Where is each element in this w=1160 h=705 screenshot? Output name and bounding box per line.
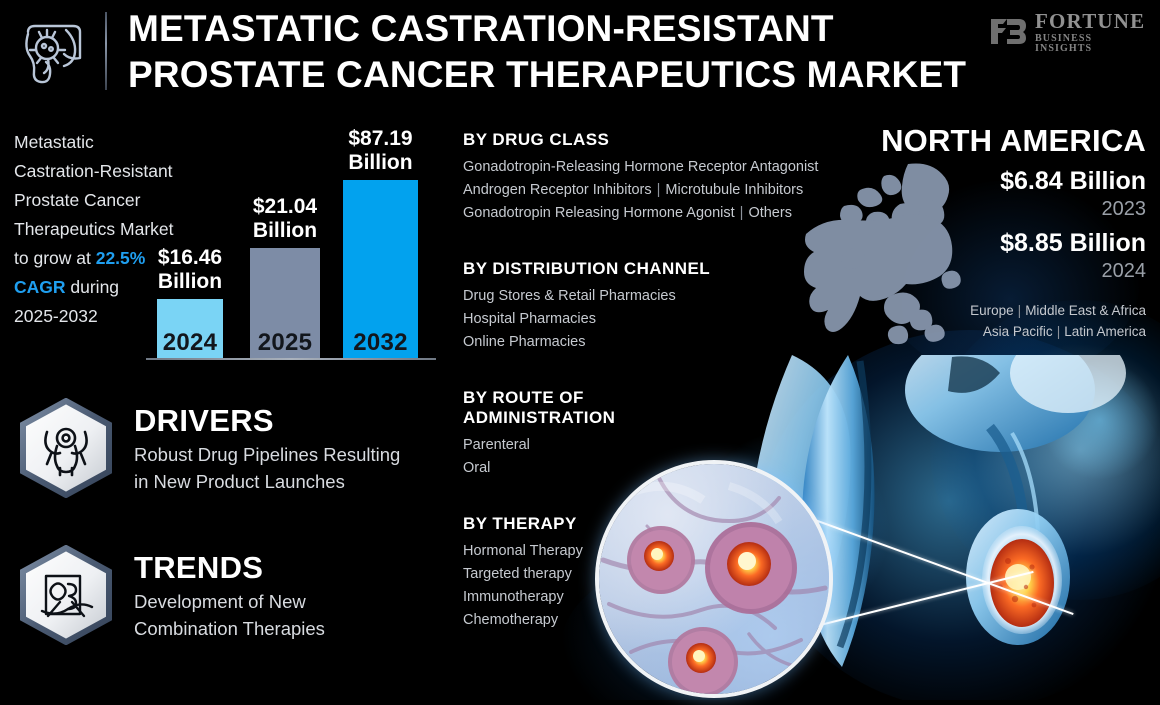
cagr-label: CAGR (14, 277, 66, 297)
forecast-period: 2025-2032 (14, 306, 98, 326)
segment-item: Hospital Pharmacies (463, 308, 843, 331)
bar-label-2025: $21.04 Billion (253, 195, 317, 248)
item-separator: | (652, 182, 666, 198)
bar-group-2025: $21.04 Billion 2025 (250, 248, 320, 358)
logo-subtitle: BUSINESS INSIGHTS (1035, 34, 1148, 54)
bar-2025: $21.04 Billion 2025 (250, 248, 320, 358)
item-separator: | (735, 205, 749, 221)
segment-item-label: Microtubule Inhibitors (665, 182, 803, 198)
drivers-block: DRIVERS Robust Drug Pipelines Resulting … (16, 398, 446, 498)
segment-title-distribution-channel: BY DISTRIBUTION CHANNEL (463, 259, 843, 279)
segment-item: Chemotherapy (463, 609, 843, 632)
region-separator: | (1053, 324, 1065, 339)
region-europe: Europe (970, 303, 1014, 318)
bar-year-2024: 2024 (163, 329, 218, 358)
region-separator: | (1014, 303, 1026, 318)
intro-part2: during (66, 277, 120, 297)
region-value-2023: $6.84 Billion (856, 166, 1146, 197)
bar-year-2032: 2032 (353, 329, 408, 358)
drivers-desc-line1: Robust Drug Pipelines Resulting (134, 444, 400, 465)
page-title-line2: PROSTATE CANCER THERAPEUTICS MARKET (128, 52, 998, 98)
bar-label-2024: $16.46 Billion (158, 246, 222, 299)
trends-text: TRENDS Development of New Combination Th… (134, 548, 325, 642)
drivers-desc-line2: in New Product Launches (134, 471, 345, 492)
trends-title: TRENDS (134, 550, 325, 586)
bar-unit-2024: Billion (158, 270, 222, 293)
segmentation-column: BY DRUG CLASS Gonadotropin-Releasing Hor… (463, 130, 843, 654)
segment-title-line2: ADMINISTRATION (463, 408, 615, 427)
bar-group-2024: $16.46 Billion 2024 (157, 299, 223, 358)
trends-desc-line2: Combination Therapies (134, 618, 325, 639)
trends-description: Development of New Combination Therapies (134, 588, 325, 642)
segment-item-label: Chemotherapy (463, 612, 558, 628)
brand-logo: FORTUNE BUSINESS INSIGHTS (988, 8, 1148, 56)
segment-item: Online Pharmacies (463, 331, 843, 354)
prostate-cancer-cell-icon (14, 12, 94, 92)
region-apac: Asia Pacific (983, 324, 1053, 339)
segment-item-label: Parenteral (463, 437, 530, 453)
segment-distribution-channel: BY DISTRIBUTION CHANNEL Drug Stores & Re… (463, 259, 843, 354)
segment-item-label: Drug Stores & Retail Pharmacies (463, 288, 676, 304)
segment-item-label: Online Pharmacies (463, 334, 586, 350)
segment-item: Parenteral (463, 434, 843, 457)
segment-item: Gonadotropin Releasing Hormone Agonist|O… (463, 202, 843, 225)
bar-year-2025: 2025 (258, 329, 313, 358)
segment-item-label: Hormonal Therapy (463, 543, 583, 559)
region-mea: Middle East & Africa (1025, 303, 1146, 318)
segment-item-label: Others (748, 205, 792, 221)
page-title-line1: METASTATIC CASTRATION-RESISTANT (128, 8, 834, 49)
cagr-value: 22.5% (96, 248, 146, 268)
page-header: METASTATIC CASTRATION-RESISTANT PROSTATE… (0, 0, 1160, 104)
region-title: NORTH AMERICA (856, 122, 1146, 160)
logo-name: FORTUNE (1035, 11, 1148, 32)
other-regions-line1: Europe|Middle East & Africa (856, 300, 1146, 321)
segment-item-label: Gonadotropin-Releasing Hormone Receptor … (463, 159, 818, 175)
bar-2032: $87.19 Billion 2032 (343, 180, 418, 358)
bar-value-2032: $87.19 (348, 127, 412, 150)
header-divider (105, 12, 107, 90)
segment-item-label: Immunotherapy (463, 589, 564, 605)
segment-drug-class: BY DRUG CLASS Gonadotropin-Releasing Hor… (463, 130, 843, 225)
fb-monogram-icon (988, 15, 1028, 49)
segment-item: Drug Stores & Retail Pharmacies (463, 285, 843, 308)
page-title: METASTATIC CASTRATION-RESISTANT PROSTATE… (128, 6, 998, 98)
region-panel: NORTH AMERICA $6.84 Billion 2023 $8.85 B… (856, 122, 1146, 342)
segment-item: Immunotherapy (463, 586, 843, 609)
segment-title-line1: BY ROUTE OF (463, 388, 584, 407)
segment-item-label: Gonadotropin Releasing Hormone Agonist (463, 205, 735, 221)
bar-value-2024: $16.46 (158, 246, 222, 269)
segment-route-of-administration: BY ROUTE OF ADMINISTRATION Parenteral Or… (463, 388, 843, 480)
segment-title-drug-class: BY DRUG CLASS (463, 130, 843, 150)
segment-item-label: Oral (463, 460, 490, 476)
trends-desc-line1: Development of New (134, 591, 306, 612)
chart-baseline-axis (146, 358, 436, 360)
segment-item-label: Androgen Receptor Inhibitors (463, 182, 652, 198)
segment-item: Gonadotropin-Releasing Hormone Receptor … (463, 156, 843, 179)
bar-label-2032: $87.19 Billion (348, 127, 412, 180)
market-size-bar-chart: $16.46 Billion 2024 $21.04 Billion 2025 … (140, 120, 440, 360)
region-year-2023: 2023 (856, 197, 1146, 222)
drivers-description: Robust Drug Pipelines Resulting in New P… (134, 441, 400, 495)
bar-group-2032: $87.19 Billion 2032 (343, 180, 418, 358)
bar-unit-2025: Billion (253, 219, 317, 242)
segment-title-therapy: BY THERAPY (463, 514, 843, 534)
segment-therapy: BY THERAPY Hormonal Therapy Targeted the… (463, 514, 843, 632)
region-latam: Latin America (1064, 324, 1146, 339)
segment-item-label: Hospital Pharmacies (463, 311, 596, 327)
segment-item: Androgen Receptor Inhibitors|Microtubule… (463, 179, 843, 202)
other-regions-line2: Asia Pacific|Latin America (856, 321, 1146, 342)
bar-unit-2032: Billion (348, 151, 412, 174)
drivers-title: DRIVERS (134, 403, 400, 439)
segment-title-route-of-administration: BY ROUTE OF ADMINISTRATION (463, 388, 843, 428)
segment-item: Targeted therapy (463, 563, 843, 586)
trends-badge-icon-frame (16, 545, 116, 645)
region-year-2024: 2024 (856, 259, 1146, 284)
trends-block: TRENDS Development of New Combination Th… (16, 545, 446, 645)
segment-item-label: Targeted therapy (463, 566, 572, 582)
segment-item: Oral (463, 457, 843, 480)
bar-2024: $16.46 Billion 2024 (157, 299, 223, 358)
bar-value-2025: $21.04 (253, 195, 317, 218)
region-value-2024: $8.85 Billion (856, 228, 1146, 259)
other-regions-list: Europe|Middle East & Africa Asia Pacific… (856, 300, 1146, 342)
drivers-text: DRIVERS Robust Drug Pipelines Resulting … (134, 401, 400, 495)
drivers-badge-icon-frame (16, 398, 116, 498)
segment-item: Hormonal Therapy (463, 540, 843, 563)
